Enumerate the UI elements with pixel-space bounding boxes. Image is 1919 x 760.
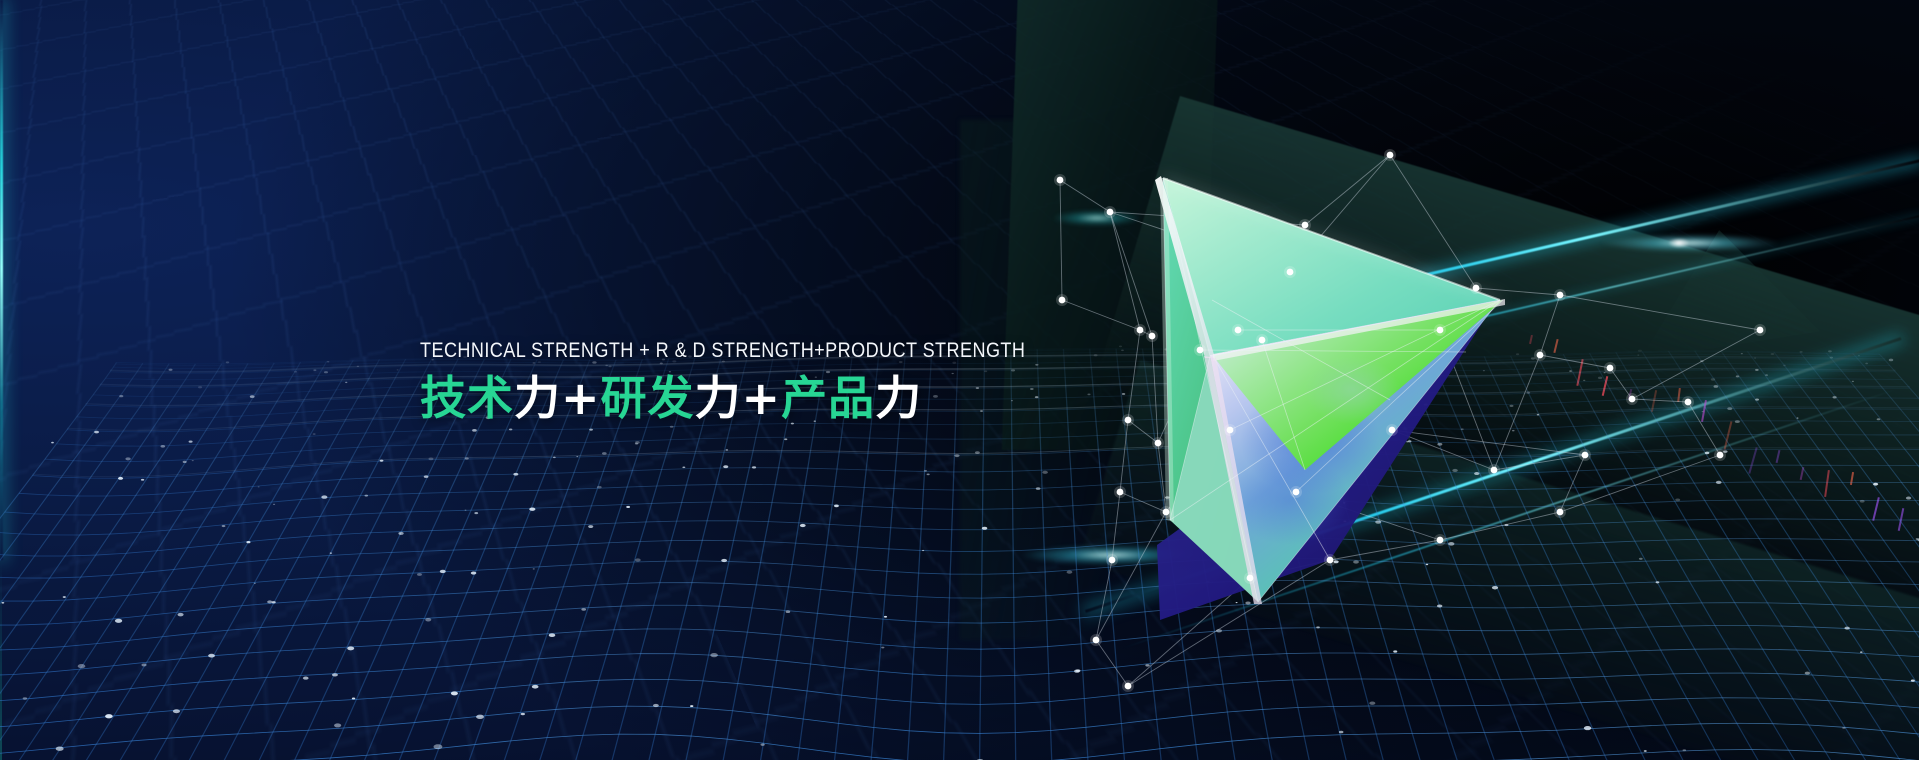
network-node <box>1146 330 1158 342</box>
network-node <box>1106 554 1118 566</box>
hero-banner: TECHNICAL STRENGTH + R & D STRENGTH+PROD… <box>0 0 1919 760</box>
network-node <box>1122 680 1134 692</box>
network-node <box>1488 464 1500 476</box>
network-node <box>1284 266 1296 278</box>
network-node <box>1104 206 1116 218</box>
network-node <box>1384 149 1396 161</box>
network-node <box>1256 334 1268 346</box>
network-node <box>1090 634 1102 646</box>
headline-block: TECHNICAL STRENGTH + R & D STRENGTH+PROD… <box>420 340 1124 425</box>
network-node <box>1579 449 1591 461</box>
network-node <box>1054 174 1066 186</box>
headline-cn-segment-4: 力 <box>695 371 742 425</box>
headline-chinese: 技术力+研发力+产品力 <box>420 373 1124 425</box>
network-node <box>1114 486 1126 498</box>
headline-cn-segment-2: + <box>561 371 601 425</box>
network-node <box>1232 324 1244 336</box>
network-node <box>1152 437 1164 449</box>
headline-cn-segment-3: 研发 <box>601 371 695 425</box>
headline-cn-segment-1: 力 <box>514 371 561 425</box>
network-node <box>1682 396 1694 408</box>
network-node <box>1244 572 1256 584</box>
network-node <box>1194 344 1206 356</box>
network-node <box>1160 506 1172 518</box>
network-node <box>1386 424 1398 436</box>
network-node <box>1134 324 1146 336</box>
network-node <box>1056 294 1068 306</box>
network-node <box>1554 289 1566 301</box>
headline-cn-segment-7: 力 <box>875 371 922 425</box>
network-node <box>1470 282 1482 294</box>
headline-cn-segment-5: + <box>742 371 782 425</box>
network-node <box>1534 349 1546 361</box>
network-node <box>1290 486 1302 498</box>
network-node <box>1434 534 1446 546</box>
network-node <box>1554 506 1566 518</box>
network-node <box>1626 393 1638 405</box>
network-node <box>1324 554 1336 566</box>
network-node <box>1434 324 1446 336</box>
headline-english: TECHNICAL STRENGTH + R & D STRENGTH+PROD… <box>420 340 1025 361</box>
headline-cn-segment-0: 技术 <box>420 371 514 425</box>
network-node <box>1299 219 1311 231</box>
network-node <box>1714 449 1726 461</box>
network-node <box>1224 424 1236 436</box>
network-node <box>1754 324 1766 336</box>
network-node <box>1604 362 1616 374</box>
headline-cn-segment-6: 产品 <box>781 371 875 425</box>
